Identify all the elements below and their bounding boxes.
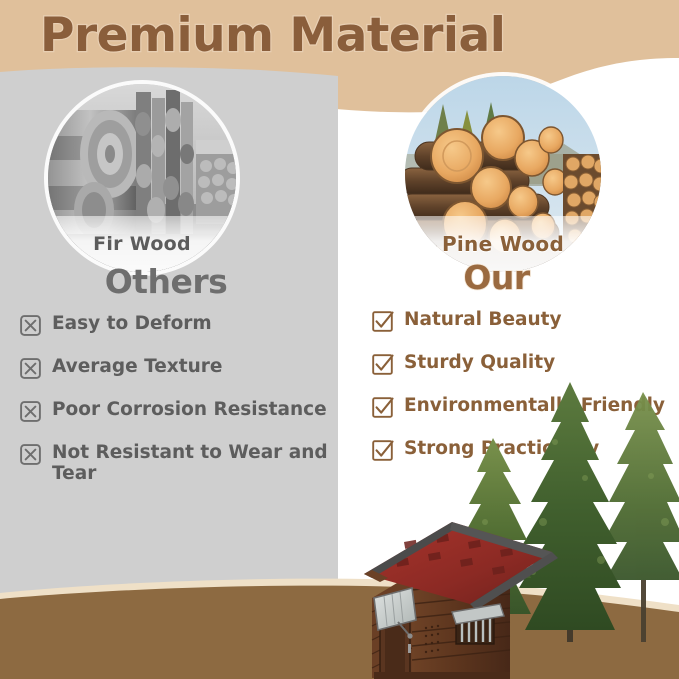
our-heading: Our (314, 258, 679, 297)
dog-kennel-image (352, 512, 592, 679)
list-item: Poor Corrosion Resistance (0, 399, 338, 422)
list-item-label: Average Texture (52, 356, 222, 377)
card-pine-wood: Pine Wood (405, 76, 601, 272)
list-item-label: Poor Corrosion Resistance (52, 399, 327, 420)
card-fir-wood: Fir Wood (48, 84, 236, 272)
cross-icon (20, 315, 41, 336)
list-item: Natural Beauty (340, 309, 679, 332)
list-item: Not Resistant to Wear and Tear (0, 442, 338, 484)
list-item: Average Texture (0, 356, 338, 379)
infographic-canvas: Premium Material (0, 0, 679, 679)
check-icon (372, 397, 393, 418)
list-item-label: Easy to Deform (52, 313, 212, 334)
others-list: Easy to Deform Average Texture Poor Corr… (0, 313, 338, 484)
cross-icon (20, 358, 41, 379)
check-icon (372, 440, 393, 461)
check-icon (372, 354, 393, 375)
list-item: Easy to Deform (0, 313, 338, 336)
others-heading: Others (0, 262, 338, 301)
list-item-label: Natural Beauty (404, 309, 562, 330)
others-column: Others Easy to Deform Average Texture Po… (0, 262, 338, 504)
list-item: Sturdy Quality (340, 352, 679, 375)
list-item-label: Sturdy Quality (404, 352, 555, 373)
check-icon (372, 311, 393, 332)
list-item-label: Not Resistant to Wear and Tear (52, 442, 338, 484)
cross-icon (20, 444, 41, 465)
cross-icon (20, 401, 41, 422)
page-title: Premium Material (40, 8, 505, 63)
